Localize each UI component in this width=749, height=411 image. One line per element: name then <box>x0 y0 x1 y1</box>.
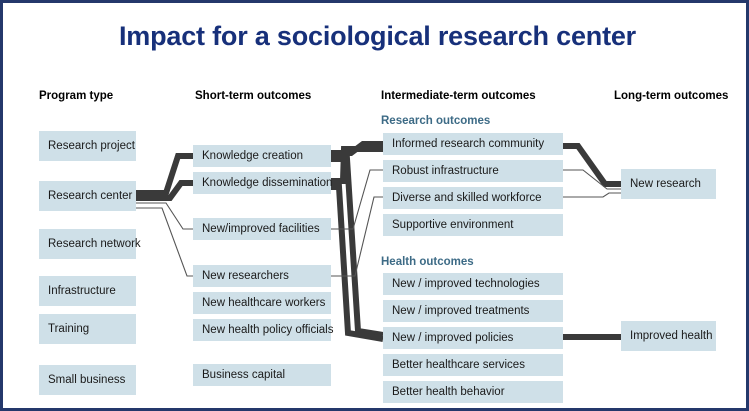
page-title: Impact for a sociological research cente… <box>3 21 749 52</box>
link-informed-research-community-to-new-research <box>563 146 621 184</box>
node-knowledge-dissemination[interactable]: Knowledge dissemination <box>193 172 331 194</box>
link-diverse-and-skilled-workforce-to-new-research <box>563 193 621 197</box>
link-new-researchers-to-diverse-and-skilled-workforce <box>331 197 383 276</box>
node-research-network[interactable]: Research network <box>39 229 136 259</box>
node-supportive-environment[interactable]: Supportive environment <box>383 214 563 236</box>
node-diverse-and-skilled-workforce[interactable]: Diverse and skilled workforce <box>383 187 563 209</box>
node-business-capital[interactable]: Business capital <box>193 364 331 386</box>
node-new-healthcare-workers[interactable]: New healthcare workers <box>193 292 331 314</box>
link-new-improved-facilities-to-robust-infrastructure <box>331 170 383 229</box>
link-research-center-to-knowledge-dissemination <box>136 183 193 198</box>
node-small-business[interactable]: Small business <box>39 365 136 395</box>
node-informed-research-community[interactable]: Informed research community <box>383 133 563 155</box>
node-new-improved-facilities[interactable]: New/improved facilities <box>193 218 331 240</box>
link-knowledge-dissemination-to-informed-research-community <box>331 149 383 181</box>
link-knowledge-dissemination-to-new-improved-policies <box>331 187 383 339</box>
subheader-research-outcomes: Research outcomes <box>381 115 490 127</box>
node-new-researchers[interactable]: New researchers <box>193 265 331 287</box>
node-new-improved-technologies[interactable]: New / improved technologies <box>383 273 563 295</box>
node-improved-health[interactable]: Improved health <box>621 321 716 351</box>
node-new-improved-treatments[interactable]: New / improved treatments <box>383 300 563 322</box>
node-research-project[interactable]: Research project <box>39 131 136 161</box>
node-new-improved-policies[interactable]: New / improved policies <box>383 327 563 349</box>
link-knowledge-creation-to-informed-research-community <box>331 144 383 153</box>
node-new-research[interactable]: New research <box>621 169 716 199</box>
node-better-health-behavior[interactable]: Better health behavior <box>383 381 563 403</box>
link-research-center-to-new-researchers <box>136 208 193 276</box>
link-knowledge-creation-to-new-improved-policies <box>331 159 383 335</box>
subheader-health-outcomes: Health outcomes <box>381 256 474 268</box>
column-header-short-term: Short-term outcomes <box>195 90 311 102</box>
node-knowledge-creation[interactable]: Knowledge creation <box>193 145 331 167</box>
column-header-long-term: Long-term outcomes <box>614 90 728 102</box>
link-research-center-to-knowledge-creation <box>136 156 193 193</box>
node-research-center[interactable]: Research center <box>39 181 136 211</box>
node-training[interactable]: Training <box>39 314 136 344</box>
column-header-intermediate-term: Intermediate-term outcomes <box>381 90 536 102</box>
column-header-program-type: Program type <box>39 90 113 102</box>
node-new-health-policy-officials[interactable]: New health policy officials <box>193 319 331 341</box>
link-robust-infrastructure-to-new-research <box>563 170 621 189</box>
slide-canvas: Impact for a sociological research cente… <box>0 0 749 411</box>
node-infrastructure[interactable]: Infrastructure <box>39 276 136 306</box>
link-research-center-to-new-improved-facilities <box>136 203 193 229</box>
node-better-healthcare-services[interactable]: Better healthcare services <box>383 354 563 376</box>
node-robust-infrastructure[interactable]: Robust infrastructure <box>383 160 563 182</box>
